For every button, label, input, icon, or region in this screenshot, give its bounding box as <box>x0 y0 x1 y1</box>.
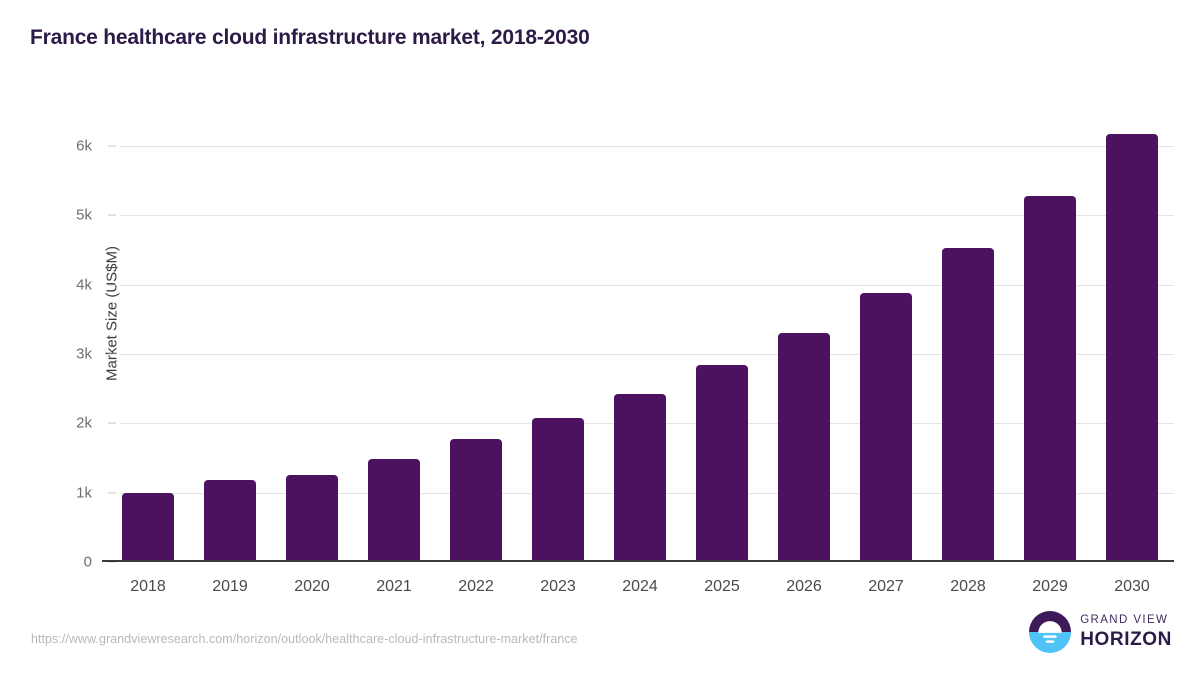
grand-view-horizon-sun-icon <box>1029 611 1071 653</box>
y-tick-label: 6k <box>32 137 92 154</box>
chart-page: France healthcare cloud infrastructure m… <box>0 0 1200 675</box>
bar-rect[interactable] <box>778 333 830 562</box>
x-tick-label-2030: 2030 <box>1087 578 1177 596</box>
logo-line-2: HORIZON <box>1080 630 1172 649</box>
y-tick-mark <box>108 492 116 493</box>
x-tick-label-2028: 2028 <box>923 578 1013 596</box>
bar-rect[interactable] <box>204 480 256 562</box>
y-tick-mark <box>108 423 116 424</box>
plot-area <box>120 118 1174 562</box>
x-tick-label-2018: 2018 <box>103 578 193 596</box>
y-tick-label: 5k <box>32 207 92 224</box>
y-tick-label: 0 <box>32 554 92 571</box>
gridline <box>120 285 1174 286</box>
bar-rect[interactable] <box>1106 134 1158 562</box>
y-tick-mark <box>108 145 116 146</box>
y-tick-mark <box>108 284 116 285</box>
y-axis-title: Market Size (US$M) <box>104 184 121 444</box>
y-tick-label: 1k <box>32 484 92 501</box>
bar-rect[interactable] <box>614 394 666 562</box>
gridline <box>120 215 1174 216</box>
gridline <box>120 354 1174 355</box>
bar-rect[interactable] <box>450 439 502 562</box>
bar-rect[interactable] <box>286 475 338 562</box>
bar-rect[interactable] <box>696 365 748 562</box>
x-tick-label-2022: 2022 <box>431 578 521 596</box>
logo-wordmark: GRAND VIEW HORIZON <box>1080 615 1172 649</box>
x-tick-label-2025: 2025 <box>677 578 767 596</box>
x-tick-label-2029: 2029 <box>1005 578 1095 596</box>
bar-rect[interactable] <box>368 459 420 562</box>
x-tick-label-2027: 2027 <box>841 578 931 596</box>
bar-rect[interactable] <box>942 248 994 562</box>
x-tick-label-2024: 2024 <box>595 578 685 596</box>
y-tick-label: 4k <box>32 276 92 293</box>
x-tick-label-2019: 2019 <box>185 578 275 596</box>
x-tick-label-2026: 2026 <box>759 578 849 596</box>
bar-rect[interactable] <box>1024 196 1076 562</box>
bar-rect[interactable] <box>532 418 584 562</box>
y-tick-label: 2k <box>32 415 92 432</box>
y-tick-mark <box>108 353 116 354</box>
brand-logo[interactable]: GRAND VIEW HORIZON <box>1029 611 1172 653</box>
x-tick-label-2023: 2023 <box>513 578 603 596</box>
x-tick-label-2021: 2021 <box>349 578 439 596</box>
logo-line-1: GRAND VIEW <box>1080 615 1172 627</box>
page-title: France healthcare cloud infrastructure m… <box>30 26 590 50</box>
x-tick-label-2020: 2020 <box>267 578 357 596</box>
gridline <box>120 146 1174 147</box>
bar-rect[interactable] <box>122 493 174 562</box>
x-axis-line <box>102 560 1174 562</box>
source-url[interactable]: https://www.grandviewresearch.com/horizo… <box>31 632 578 646</box>
y-tick-label: 3k <box>32 345 92 362</box>
bar-rect[interactable] <box>860 293 912 562</box>
y-tick-mark <box>108 215 116 216</box>
